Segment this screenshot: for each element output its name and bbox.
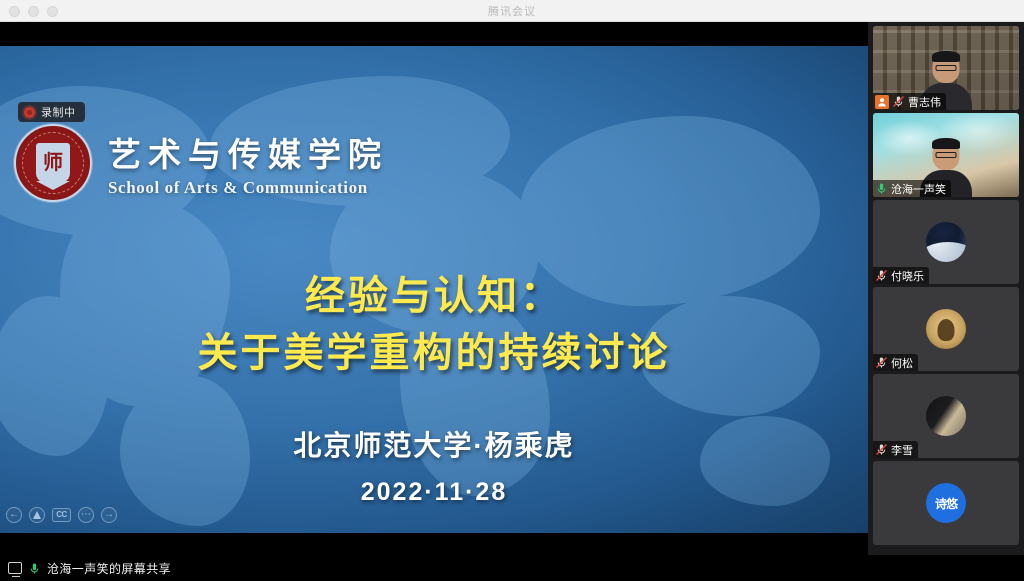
participant-namebar: 何松: [873, 354, 918, 371]
slide-title-line2: 关于美学重构的持续讨论: [0, 325, 868, 382]
participant-name: 沧海一声笑: [891, 181, 946, 197]
university-seal-logo: 师: [14, 124, 92, 202]
recording-indicator: 录制中: [18, 102, 85, 122]
presentation-slide[interactable]: 录制中 师 艺术与传媒学院 School of Arts & Communica…: [0, 46, 868, 533]
slide-body: 经验与认知： 关于美学重构的持续讨论 北京师范大学·杨乘虎 2022·11·28: [0, 268, 868, 507]
record-dot-icon: [24, 107, 35, 118]
tencent-meeting-window: 腾讯会议 录制中: [0, 0, 1024, 581]
captions-icon[interactable]: CC: [52, 508, 71, 522]
recording-label: 录制中: [41, 104, 76, 120]
previous-slide-icon[interactable]: ←: [6, 507, 22, 523]
participant-tile-hesong[interactable]: 何松: [873, 287, 1019, 371]
slide-date: 2022·11·28: [0, 478, 868, 507]
participant-name: 何松: [891, 355, 913, 371]
participant-tile-canghaiyishengxiao[interactable]: 沧海一声笑: [873, 113, 1019, 197]
participant-tile-fuxiaole[interactable]: 付晓乐: [873, 200, 1019, 284]
mic-muted-icon: [875, 269, 888, 282]
screen-share-status-bar: 沧海一声笑的屏幕共享: [0, 555, 1024, 581]
participant-rail[interactable]: 曹志伟 沧海一声笑: [868, 22, 1024, 555]
participant-tile-lixue[interactable]: 李雪: [873, 374, 1019, 458]
slide-presenter: 北京师范大学·杨乘虎: [0, 424, 868, 464]
mic-muted-icon: [875, 356, 888, 369]
participant-namebar: 付晓乐: [873, 267, 929, 284]
window-title: 腾讯会议: [0, 3, 1024, 19]
participant-avatar: [926, 396, 966, 436]
participant-namebar: 沧海一声笑: [873, 180, 951, 197]
participant-avatar: 诗悠: [926, 483, 966, 523]
slide-header: 师 艺术与传媒学院 School of Arts & Communication: [14, 124, 388, 202]
seal-emblem: 师: [36, 143, 70, 183]
host-badge-icon: [875, 95, 889, 109]
participant-tile-partial[interactable]: 诗悠: [873, 461, 1019, 545]
mic-active-icon: [28, 562, 41, 575]
slide-title-line1: 经验与认知：: [0, 268, 868, 325]
participant-name: 付晓乐: [891, 268, 924, 284]
slideshow-control-bar[interactable]: ← CC ⋯ →: [6, 507, 117, 523]
more-options-icon[interactable]: ⋯: [78, 507, 94, 523]
participant-avatar: [926, 309, 966, 349]
mic-active-icon: [875, 182, 888, 195]
participant-avatar: [926, 222, 966, 262]
participant-name: 曹志伟: [908, 94, 941, 110]
minimize-button[interactable]: [28, 6, 39, 17]
shared-screen-stage[interactable]: 录制中 师 艺术与传媒学院 School of Arts & Communica…: [0, 22, 868, 555]
screen-share-label: 沧海一声笑的屏幕共享: [47, 560, 171, 577]
mic-muted-icon: [875, 443, 888, 456]
participant-namebar: 李雪: [873, 441, 918, 458]
participant-namebar: 曹志伟: [873, 93, 946, 110]
participant-name: 李雪: [891, 442, 913, 458]
pen-tool-icon[interactable]: [29, 507, 45, 523]
mic-muted-icon: [892, 95, 905, 108]
screen-share-icon: [8, 562, 22, 574]
school-name-en: School of Arts & Communication: [108, 178, 388, 198]
school-name-cn: 艺术与传媒学院: [108, 128, 388, 176]
close-button[interactable]: [9, 6, 20, 17]
participant-tile-caozhiwei[interactable]: 曹志伟: [873, 26, 1019, 110]
zoom-button[interactable]: [47, 6, 58, 17]
traffic-light-buttons[interactable]: [9, 0, 58, 22]
window-title-bar: 腾讯会议: [0, 0, 1024, 22]
next-slide-icon[interactable]: →: [101, 507, 117, 523]
